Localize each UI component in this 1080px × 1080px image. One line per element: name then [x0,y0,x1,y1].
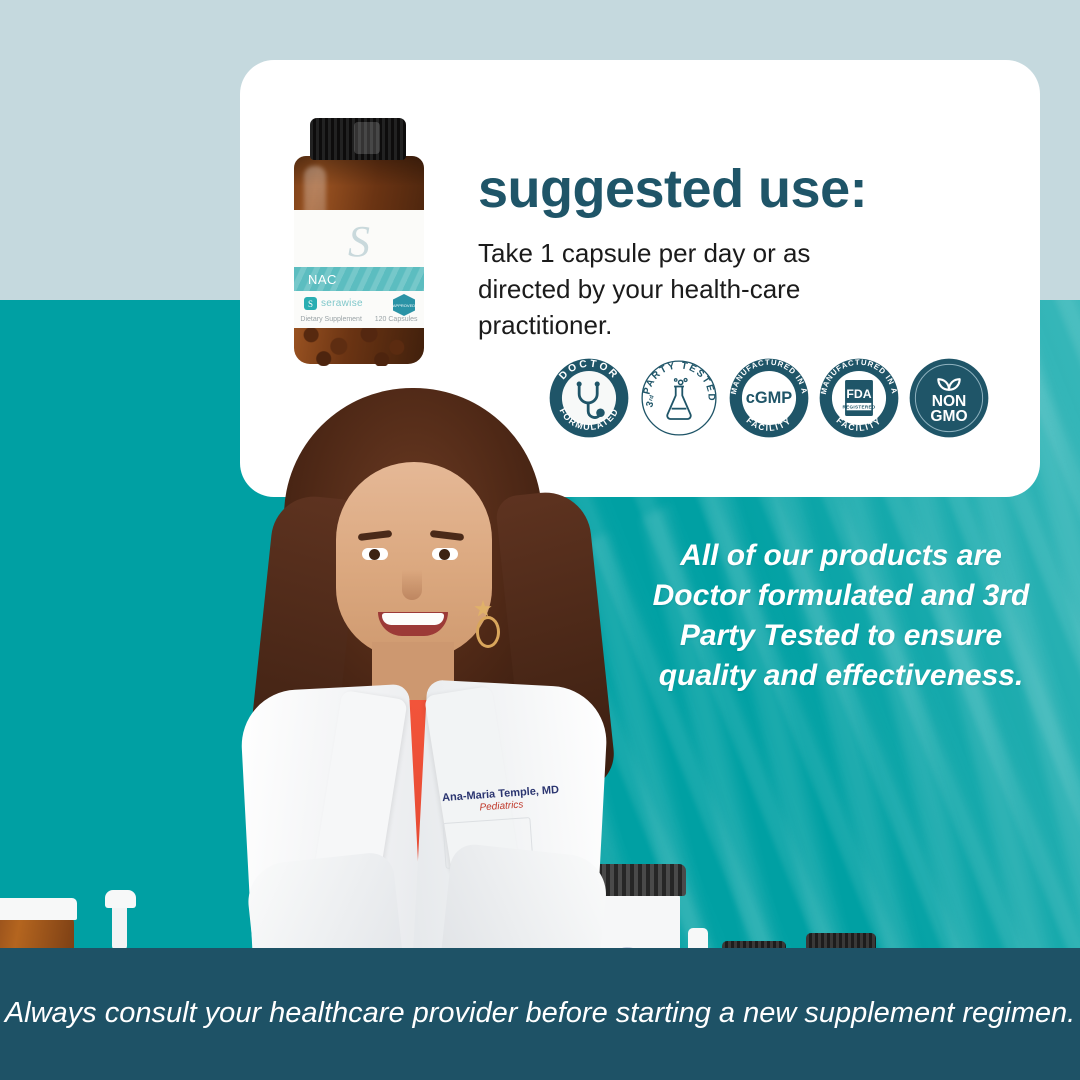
svg-text:GMO: GMO [930,408,967,425]
badge-third-party-tested: PARTY TESTED 3 rd [638,357,720,439]
promo-statement: All of our products are Doctor formulate… [646,536,1036,696]
brand-logo-letter: S [294,216,424,266]
disclaimer-text: Always consult your healthcare provider … [5,994,1075,1033]
capsule-count: 120 Capsules [375,316,418,323]
product-name-band: NAC [294,267,424,291]
fda-icon: MANUFACTURED IN A FACILITY FDA REGISTERE… [818,357,900,439]
badge-cgmp: MANUFACTURED IN A FACILITY cGMP [728,357,810,439]
disclaimer-bar: Always consult your healthcare provider … [0,948,1080,1080]
badge-fda-registered: MANUFACTURED IN A FACILITY FDA REGISTERE… [818,357,900,439]
eye-left [362,548,388,560]
brand-name: serawise [321,298,363,309]
bottle-label: S NAC S serawise APPROVED Dietary Supple… [294,210,424,328]
stethoscope-icon: DOCTOR FORMULATED [548,357,630,439]
svg-text:cGMP: cGMP [746,389,793,407]
supplement-type: Dietary Supplement [300,316,361,323]
cgmp-icon: MANUFACTURED IN A FACILITY cGMP [728,357,810,439]
earring-hoop [476,616,500,648]
svg-text:FDA: FDA [846,387,871,401]
pump-neck [112,904,127,950]
svg-text:REGISTERED: REGISTERED [842,405,875,410]
certification-badge-row: DOCTOR FORMULATED PARTY TESTED [548,357,990,439]
usage-instructions: Take 1 capsule per day or as directed by… [478,236,908,344]
poster-canvas: S plant point max S S [0,0,1080,1080]
pump-head [105,890,135,908]
leaf-icon: NON GMO [908,357,990,439]
badge-non-gmo: NON GMO [908,357,990,439]
doctor-portrait: Ana-Maria Temple, MD Pediatrics [232,388,612,1038]
page-title: suggested use: [478,158,867,220]
nose [402,570,422,600]
brand-lockup: S serawise [304,297,363,310]
bottle-cap [310,118,406,160]
flask-icon: PARTY TESTED 3 rd [638,357,720,439]
nac-product-bottle: S NAC S serawise APPROVED Dietary Supple… [274,118,444,368]
product-name: NAC [294,272,337,287]
eye-right [432,548,458,560]
white-cap-icon [0,898,77,920]
badge-doctor-formulated: DOCTOR FORMULATED [548,357,630,439]
brand-mark-icon: S [304,297,317,310]
approved-seal-icon: APPROVED [393,294,415,316]
label-footer: Dietary Supplement 120 Capsules [294,316,424,323]
